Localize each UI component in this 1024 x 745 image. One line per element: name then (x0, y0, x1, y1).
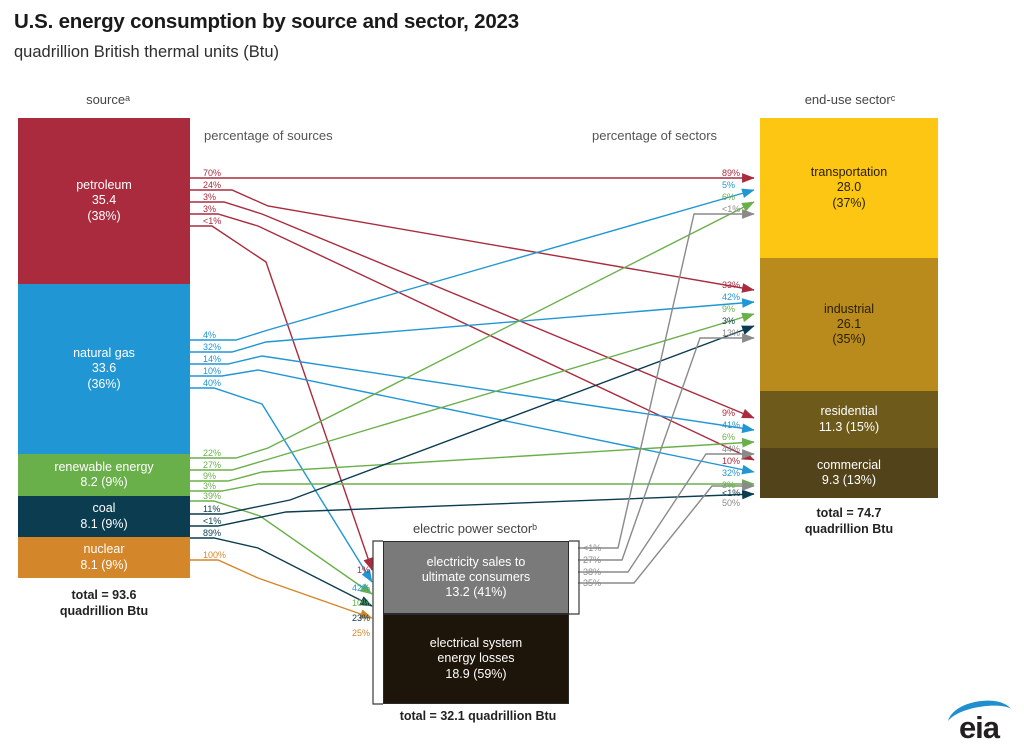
pct-petroleum-transportation: 70% (203, 168, 221, 178)
source-label-coal: coal (80, 501, 127, 516)
enduse-total-line2: quadrillion Btu (760, 522, 938, 538)
pct-renewable-electric: 39% (203, 491, 221, 501)
source-bar-nuclear[interactable]: nuclear 8.1 (9%) (18, 537, 190, 578)
sector-label-commercial: commercial (817, 458, 881, 473)
pct-electric-in-natural-gas: 42% (352, 583, 370, 593)
sector-bar-residential[interactable]: residential 11.3 (15%) (760, 391, 938, 448)
pct-electric-in-renewable: 10% (352, 598, 370, 608)
pct-renewable-residential: 9% (203, 471, 216, 481)
pct-transportation-petroleum: 89% (722, 168, 740, 178)
pct-nuclear-electric: 100% (203, 550, 226, 560)
source-value-petroleum: 35.4 (76, 193, 132, 208)
eia-wordmark: eia (944, 712, 1014, 743)
pct-natural-gas-electric: 40% (203, 378, 221, 388)
source-bar-coal[interactable]: coal 8.1 (9%) (18, 496, 190, 537)
source-total: total = 93.6 quadrillion Btu (18, 588, 190, 619)
percentage-of-sources-header: percentage of sources (204, 128, 333, 143)
sector-label-residential: residential (819, 404, 879, 419)
eps-sales-line2: ultimate consumers (422, 570, 530, 585)
pct-electric-out-industrial: 27% (583, 555, 601, 565)
source-value-nuclear: 8.1 (9%) (80, 558, 127, 573)
sector-value-residential: 11.3 (15%) (819, 420, 879, 435)
sector-label-industrial: industrial (824, 302, 874, 317)
pct-petroleum-electric: <1% (203, 216, 221, 226)
pct-commercial-electric: 50% (722, 498, 740, 508)
pct-industrial-coal: 3% (722, 316, 735, 326)
sector-bar-commercial[interactable]: commercial 9.3 (13%) (760, 448, 938, 498)
source-label-petroleum: petroleum (76, 178, 132, 193)
source-share-natural-gas: (36%) (73, 377, 135, 392)
pct-commercial-natural-gas: 32% (722, 468, 740, 478)
eps-sales-line1: electricity sales to (422, 555, 530, 570)
enduse-total: total = 74.7 quadrillion Btu (760, 506, 938, 537)
pct-commercial-petroleum: 10% (722, 456, 740, 466)
pct-industrial-electric: 13% (722, 328, 740, 338)
source-total-line1: total = 93.6 (18, 588, 190, 604)
pct-industrial-natural-gas: 42% (722, 292, 740, 302)
pct-coal-commercial: <1% (203, 516, 221, 526)
eps-losses-value: 18.9 (59%) (430, 667, 522, 682)
sector-share-transportation: (37%) (811, 196, 887, 211)
pct-renewable-transportation: 22% (203, 448, 221, 458)
source-value-coal: 8.1 (9%) (80, 517, 127, 532)
pct-residential-electric: 44% (722, 444, 740, 454)
pct-transportation-electric: <1% (722, 204, 740, 214)
pct-petroleum-commercial: 3% (203, 204, 216, 214)
pct-renewable-commercial: 3% (203, 481, 216, 491)
sector-bar-transportation[interactable]: transportation 28.0 (37%) (760, 118, 938, 258)
sector-value-commercial: 9.3 (13%) (817, 473, 881, 488)
source-total-line2: quadrillion Btu (18, 604, 190, 620)
pct-commercial-renewable: 3% (722, 480, 735, 490)
pct-electric-out-transportation: <1% (583, 543, 601, 553)
eps-losses-line1: electrical system (430, 636, 522, 651)
pct-natural-gas-commercial: 10% (203, 366, 221, 376)
pct-electric-in-petroleum: 1% (357, 565, 370, 575)
page-subtitle: quadrillion British thermal units (Btu) (14, 43, 279, 62)
source-column-header: sourceᵃ (18, 92, 198, 107)
pct-electric-out-commercial: 35% (583, 578, 601, 588)
eps-total: total = 32.1 quadrillion Btu (363, 709, 593, 725)
pct-transportation-renewable: 6% (722, 192, 735, 202)
sector-value-transportation: 28.0 (811, 180, 887, 195)
pct-residential-petroleum: 9% (722, 408, 735, 418)
source-bar-petroleum[interactable]: petroleum 35.4 (38%) (18, 118, 190, 284)
sector-label-transportation: transportation (811, 165, 887, 180)
source-label-nuclear: nuclear (80, 542, 127, 557)
pct-residential-renewable: 6% (722, 432, 735, 442)
pct-industrial-renewable: 9% (722, 304, 735, 314)
pct-coal-electric: 89% (203, 528, 221, 538)
source-value-natural-gas: 33.6 (73, 361, 135, 376)
source-bar-natural-gas[interactable]: natural gas 33.6 (36%) (18, 284, 190, 454)
pct-natural-gas-residential: 14% (203, 354, 221, 364)
enduse-column-header: end-use sectorᶜ (755, 92, 945, 107)
pct-petroleum-industrial: 24% (203, 180, 221, 190)
sector-share-industrial: (35%) (824, 332, 874, 347)
source-label-renewable-energy: renewable energy (54, 460, 153, 475)
pct-industrial-petroleum: 33% (722, 280, 740, 290)
pct-coal-industrial: 11% (203, 504, 220, 514)
eps-sales-value: 13.2 (41%) (422, 585, 530, 600)
pct-renewable-industrial: 27% (203, 460, 221, 470)
percentage-of-sectors-header: percentage of sectors (592, 128, 717, 143)
pct-electric-in-coal: 23% (352, 613, 370, 623)
enduse-total-line1: total = 74.7 (760, 506, 938, 522)
eia-logo: eia (944, 694, 1014, 740)
eps-losses-line2: energy losses (430, 651, 522, 666)
page-title: U.S. energy consumption by source and se… (14, 10, 519, 34)
pct-natural-gas-transportation: 4% (203, 330, 216, 340)
pct-commercial-coal: <1% (722, 488, 740, 498)
pct-electric-out-residential: 38% (583, 567, 601, 577)
source-bar-renewable-energy[interactable]: renewable energy 8.2 (9%) (18, 454, 190, 496)
eps-block-system-losses[interactable]: electrical system energy losses 18.9 (59… (383, 614, 569, 704)
sector-value-industrial: 26.1 (824, 317, 874, 332)
sector-bar-industrial[interactable]: industrial 26.1 (35%) (760, 258, 938, 391)
eps-block-electricity-sales[interactable]: electricity sales to ultimate consumers … (383, 541, 569, 614)
pct-petroleum-residential: 3% (203, 192, 216, 202)
pct-residential-natural-gas: 41% (722, 420, 740, 430)
electric-power-sector-header: electric power sectorᵇ (355, 521, 595, 536)
pct-natural-gas-industrial: 32% (203, 342, 221, 352)
pct-electric-in-nuclear: 25% (352, 628, 370, 638)
source-share-petroleum: (38%) (76, 209, 132, 224)
pct-transportation-natural-gas: 5% (722, 180, 735, 190)
source-label-natural-gas: natural gas (73, 346, 135, 361)
source-value-renewable-energy: 8.2 (9%) (54, 475, 153, 490)
